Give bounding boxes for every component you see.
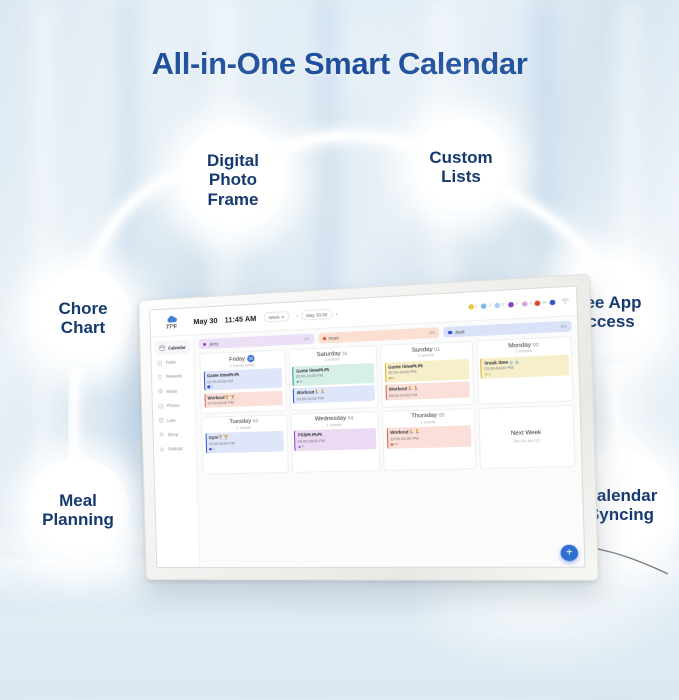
- avatar[interactable]: C: [494, 302, 505, 308]
- weather-widget[interactable]: 77°F: [156, 314, 186, 331]
- app-sidebar: Calendar Tasks Rewards Meals: [151, 335, 200, 567]
- feature-bubble-meal-planning[interactable]: Meal Planning: [26, 458, 130, 562]
- avatar-initial: T: [516, 302, 519, 306]
- week-grid: Friday30 2 events today Game time🎮🎮 02:0…: [199, 336, 575, 475]
- member-name: mom: [328, 335, 338, 341]
- sidebar-label: Lists: [167, 417, 176, 422]
- feature-label: Meal Planning: [42, 491, 114, 529]
- event-owner: J: [209, 445, 281, 451]
- day-name: Friday: [229, 356, 245, 363]
- view-selector[interactable]: Week ▾: [263, 311, 289, 323]
- chevron-down-icon: ▾: [282, 314, 284, 319]
- next-week-cell[interactable]: Next Week Jun 06-Jun 12: [478, 405, 576, 469]
- day-number: 03: [253, 419, 258, 424]
- avatar[interactable]: L: [468, 303, 478, 309]
- feature-bubble-custom-lists[interactable]: Custom Lists: [412, 118, 510, 216]
- feature-label: Chore Chart: [58, 299, 107, 337]
- avatar-initial: L: [475, 304, 478, 308]
- member-avatars: L J C T J m: [468, 298, 569, 310]
- day-number: 01: [434, 346, 440, 352]
- day-number: 05: [439, 413, 445, 419]
- day-cell-friday[interactable]: Friday30 2 events today Game time🎮🎮 02:0…: [199, 350, 286, 414]
- calendar-content: Jerry 0/1 mom 0/0 Jack 0/1: [194, 316, 585, 567]
- sidebar-item-settings[interactable]: Settings: [154, 441, 196, 457]
- avatar-initial: J: [529, 301, 531, 305]
- day-number: 30: [247, 355, 255, 363]
- chevron-right-icon[interactable]: ›: [336, 311, 338, 316]
- date-range-label[interactable]: May 30-05: [301, 309, 333, 321]
- page-title: All-in-One Smart Calendar: [0, 46, 679, 82]
- calendar-app-screen: 77°F May 30 11:45 AM Week ▾ ‹ May 30-05 …: [150, 287, 584, 568]
- event-card[interactable]: PS5🎮🎮🎮 04:00-05:00 PM T: [294, 429, 376, 451]
- tasks-icon: [157, 360, 163, 366]
- day-cell-saturday[interactable]: Saturday31 2 events Game time🎮🎮 03:00-04…: [288, 345, 379, 411]
- member-card-jack[interactable]: Jack 0/1: [444, 321, 572, 338]
- member-count: 0/0: [429, 331, 435, 336]
- avatar-initial: C: [502, 302, 505, 306]
- sidebar-item-meals[interactable]: Meals: [152, 383, 194, 399]
- trophy-icon: [157, 374, 163, 380]
- event-owner-initial: d: [300, 380, 302, 384]
- avatar[interactable]: J: [481, 303, 491, 309]
- date-range-nav[interactable]: ‹ May 30-05 ›: [296, 308, 337, 321]
- current-time: 11:45 AM: [225, 313, 257, 324]
- view-selector-label: Week: [269, 314, 280, 320]
- avatar-initial: m: [542, 300, 546, 305]
- event-card[interactable]: Game time🎮🎮 03:00-04:00 PM d: [292, 363, 374, 387]
- smart-calendar-device: 77°F May 30 11:45 AM Week ▾ ‹ May 30-05 …: [142, 300, 562, 580]
- feature-bubble-chore-chart[interactable]: Chore Chart: [33, 268, 133, 368]
- avatar[interactable]: m: [535, 300, 546, 306]
- event-owner-initial: T: [302, 445, 304, 449]
- day-number: 04: [348, 416, 354, 421]
- sidebar-label: Photos: [167, 403, 180, 408]
- app-body: Calendar Tasks Rewards Meals: [151, 316, 584, 567]
- feature-bubble-digital-photo-frame[interactable]: Digital Photo Frame: [178, 125, 288, 235]
- gear-icon: [159, 446, 165, 452]
- member-card-jerry[interactable]: Jerry 0/1: [199, 333, 314, 349]
- member-card-mom[interactable]: mom 0/0: [318, 327, 439, 344]
- member-count: 0/1: [304, 337, 310, 341]
- next-week-range: Jun 06-Jun 12: [513, 439, 540, 444]
- event-card[interactable]: Workout🏃🏃 03:00-04:00 PM: [385, 382, 470, 401]
- next-week-title: Next Week: [511, 430, 541, 437]
- event-owner: T: [298, 443, 373, 449]
- event-owner-initial: L: [489, 372, 491, 376]
- calendar-icon: [159, 345, 165, 351]
- event-owner-initial: J: [213, 447, 215, 451]
- sidebar-item-lists[interactable]: Lists: [153, 412, 195, 428]
- chevron-left-icon[interactable]: ‹: [296, 313, 298, 318]
- photo-icon: [158, 403, 164, 409]
- device-screen-inner: 77°F May 30 11:45 AM Week ▾ ‹ May 30-05 …: [149, 285, 585, 568]
- list-icon: [158, 417, 164, 423]
- sidebar-label: Tasks: [165, 359, 176, 364]
- temperature-value: 77°F: [166, 324, 177, 331]
- day-cell-sunday[interactable]: Sunday01 2 events Game time🎮🎮 02:00-04:0…: [380, 341, 474, 408]
- avatar[interactable]: J: [522, 300, 532, 306]
- event-card[interactable]: Game time🎮🎮 02:00-04:00 PM L: [384, 359, 469, 383]
- sidebar-label: Sleep: [167, 432, 178, 437]
- member-name: Jack: [455, 329, 465, 335]
- day-cell-monday[interactable]: Monday02 1 events break time🍵🍵 03:00-04:…: [476, 336, 574, 404]
- add-event-fab[interactable]: +: [560, 545, 578, 561]
- sidebar-label: Meals: [166, 388, 177, 393]
- cloud-icon: [165, 314, 178, 323]
- feature-label: Digital Photo Frame: [207, 151, 259, 208]
- current-date: May 30: [193, 315, 217, 325]
- day-cell-wednesday[interactable]: Wednesday04 1 events PS5🎮🎮🎮 04:00-05:00 …: [290, 411, 381, 473]
- avatar[interactable]: [549, 299, 555, 305]
- event-owner-initial: L: [393, 376, 395, 380]
- avatar[interactable]: T: [508, 301, 518, 307]
- member-name: Jerry: [209, 341, 219, 347]
- event-card[interactable]: Workout🏋️🏋️ 02:00-04:00 PM: [204, 390, 283, 408]
- day-cell-tuesday[interactable]: Tuesday03 1 events Gym🏋️🏋️ 03:00-04:00 P…: [201, 414, 288, 475]
- member-count: 0/1: [560, 324, 566, 329]
- plus-icon: +: [566, 547, 573, 558]
- day-number: 02: [533, 341, 539, 347]
- event-card[interactable]: break time🍵🍵 03:00-04:00 PM L: [480, 354, 569, 379]
- meals-icon: [157, 388, 163, 394]
- event-card[interactable]: Gym🏋️🏋️ 03:00-04:00 PM J: [205, 431, 284, 453]
- sidebar-label: Calendar: [168, 345, 186, 351]
- day-number: 31: [342, 350, 348, 355]
- event-owner-initial: m: [395, 442, 398, 446]
- event-card[interactable]: Workout🏃🏃 12:00-01:00 PM m: [386, 426, 471, 449]
- event-card[interactable]: Workout🏃🏃 03:00-04:00 PM: [293, 385, 375, 403]
- event-owner-initial: J: [211, 385, 213, 389]
- day-cell-thursday[interactable]: Thursday05 1 events Workout🏃🏃 12:00-01:0…: [382, 408, 476, 471]
- sleep-icon: [159, 432, 165, 438]
- feature-label: Custom Lists: [429, 148, 492, 186]
- sidebar-label: Settings: [168, 446, 183, 451]
- sidebar-item-photos[interactable]: Photos: [153, 398, 195, 414]
- device-bezel: 77°F May 30 11:45 AM Week ▾ ‹ May 30-05 …: [138, 274, 599, 581]
- event-card[interactable]: Game time🎮🎮 02:00-04:00 PM J: [203, 368, 282, 391]
- avatar-initial: J: [489, 303, 491, 307]
- sidebar-item-sleep[interactable]: Sleep: [153, 427, 195, 443]
- wifi-icon: [561, 298, 569, 305]
- sidebar-label: Rewards: [166, 374, 182, 380]
- event-owner: m: [390, 440, 468, 446]
